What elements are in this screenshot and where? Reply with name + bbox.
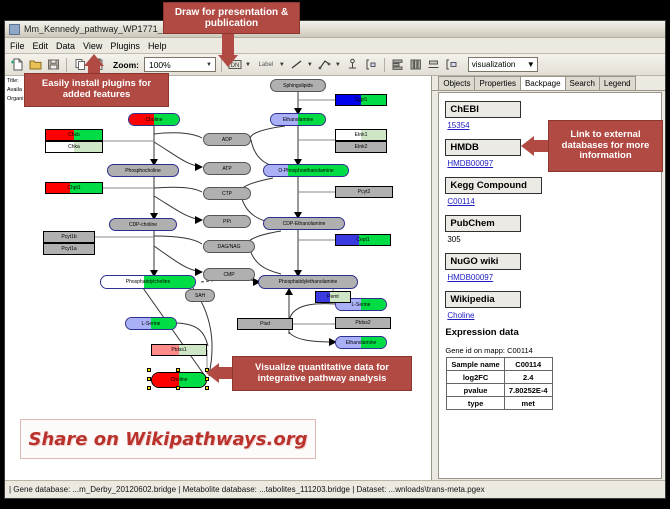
zoom-combobox[interactable]: 100% ▼ xyxy=(144,57,216,72)
toolbar-separator xyxy=(66,58,67,72)
node-label: Phosphatidylethanolamine xyxy=(279,279,338,285)
node-ethanolamine-top[interactable]: Ethanolamine xyxy=(270,113,326,126)
node-label: Sphingolipids xyxy=(283,83,313,89)
backpage-header-nugo: NuGO wiki xyxy=(445,253,521,270)
callout-text: Share on Wikipathways.org xyxy=(29,429,308,450)
node-etnk2[interactable]: Etnk2 xyxy=(335,141,387,153)
tab-objects[interactable]: Objects xyxy=(438,76,475,90)
chevron-down-icon[interactable]: ▼ xyxy=(307,62,313,68)
node-label: Chpt1 xyxy=(67,185,80,191)
table-row: log2FC 2.4 xyxy=(447,371,552,384)
visualization-value: visualization xyxy=(472,60,516,69)
shape-icon[interactable] xyxy=(317,57,333,73)
table-row: type met xyxy=(447,397,552,410)
node-label: Ptdss2 xyxy=(355,320,370,326)
callout-links-arrow-icon xyxy=(521,136,534,156)
node-label: Ptdss1 xyxy=(171,347,186,353)
table-cell-key: log2FC xyxy=(447,371,504,384)
node-label: PPi xyxy=(223,219,231,225)
zoom-label: Zoom: xyxy=(113,60,139,70)
menubar: File Edit Data View Plugins Help xyxy=(5,38,665,54)
backpage-header-hmdb: HMDB xyxy=(445,139,521,156)
node-chkb[interactable]: Chkb xyxy=(45,129,103,141)
statusbar: | Gene database: ...m_Derby_20120602.bri… xyxy=(5,480,665,498)
node-ptdss1[interactable]: Ptdss1 xyxy=(151,344,207,356)
screenshot-root: Mm_Kennedy_pathway_WP1771_45176.gpml Fil… xyxy=(0,0,670,509)
node-cdp-ethanolamine[interactable]: CDP-Ethanolamine xyxy=(263,217,345,230)
line-icon[interactable] xyxy=(289,57,305,73)
node-label: CMP xyxy=(223,272,234,278)
node-chpt1[interactable]: Chpt1 xyxy=(45,182,103,194)
node-label: CTP xyxy=(222,191,232,197)
stack-icon[interactable] xyxy=(426,57,442,73)
distribute-icon[interactable] xyxy=(408,57,424,73)
callout-plugins: Easily install plugins for added feature… xyxy=(24,73,169,107)
node-label: Sgpl1 xyxy=(355,97,368,103)
node-label: DAG/NAG xyxy=(217,244,240,250)
chevron-down-icon[interactable]: ▼ xyxy=(335,62,341,68)
backpage-header-wikipedia: Wikipedia xyxy=(445,291,521,308)
node-l-serine-left[interactable]: L-Serine xyxy=(125,317,177,330)
anchor-icon[interactable] xyxy=(345,57,361,73)
node-choline-selected[interactable]: Choline xyxy=(151,372,207,388)
node-phosphocholine[interactable]: Phosphocholine xyxy=(107,164,179,177)
table-cell-value: met xyxy=(504,397,552,410)
node-ctp[interactable]: CTP xyxy=(203,187,251,200)
node-pcyt2[interactable]: Pcyt2 xyxy=(335,186,393,198)
table-cell-key: type xyxy=(447,397,504,410)
node-chka[interactable]: Chka xyxy=(45,141,103,153)
statusbar-text: | Gene database: ...m_Derby_20120602.bri… xyxy=(9,485,485,494)
table-cell-value: 7.80252E-4 xyxy=(504,384,552,397)
node-label: Etnk2 xyxy=(355,144,368,150)
chevron-down-icon: ▼ xyxy=(527,60,535,69)
node-sphingolipids[interactable]: Sphingolipids xyxy=(270,79,326,92)
node-label: Chka xyxy=(68,144,80,150)
node-cmp[interactable]: CMP xyxy=(203,268,255,281)
menu-plugins[interactable]: Plugins xyxy=(110,41,145,51)
node-choline-top[interactable]: Choline xyxy=(128,113,180,126)
node-ethanolamine-bottom[interactable]: Ethanolamine xyxy=(335,336,387,349)
group-icon[interactable] xyxy=(444,57,460,73)
node-label: Ethanolamine xyxy=(283,117,314,123)
callout-visualize: Visualize quantitative data for integrat… xyxy=(232,356,412,391)
node-label: Phosphocholine xyxy=(125,168,161,174)
callout-share: Share on Wikipathways.org xyxy=(20,419,316,459)
table-cell-key: Sample name xyxy=(447,358,504,371)
node-label: Chkb xyxy=(68,132,80,138)
tab-search[interactable]: Search xyxy=(565,76,600,90)
menu-help[interactable]: Help xyxy=(148,41,172,51)
node-label: Pcyt1a xyxy=(61,246,76,252)
node-o-phosphoethanolamine[interactable]: O-Phosphoethanolamine xyxy=(263,164,349,177)
backpage-link-wikipedia[interactable]: Choline xyxy=(447,311,661,320)
toolbar-separator xyxy=(384,58,385,72)
table-cell-value: C00114 xyxy=(504,358,552,371)
callout-text: Easily install plugins for added feature… xyxy=(31,79,162,101)
window-titlebar: Mm_Kennedy_pathway_WP1771_45176.gpml xyxy=(5,21,665,38)
node-sah[interactable]: SAH xyxy=(185,289,215,302)
node-label: Choline xyxy=(146,117,163,123)
chevron-down-icon[interactable]: ▼ xyxy=(279,62,285,68)
node-cept1[interactable]: Cept1 xyxy=(335,234,391,246)
node-label: Pemt xyxy=(327,294,339,300)
node-atp[interactable]: ATP xyxy=(203,162,251,175)
backpage-link-kegg[interactable]: C00114 xyxy=(447,197,661,206)
save-disk-icon[interactable] xyxy=(45,57,61,73)
node-phosphatidylethanolamine[interactable]: Phosphatidylethanolamine xyxy=(258,275,358,289)
node-label: Pcyt1b xyxy=(61,234,76,240)
node-adp[interactable]: ADP xyxy=(203,133,251,146)
node-label: Pcyt2 xyxy=(358,189,371,195)
callout-links: Link to external databases for more info… xyxy=(548,120,663,172)
node-dag-nag[interactable]: DAG/NAG xyxy=(203,240,255,253)
node-sgpl1[interactable]: Sgpl1 xyxy=(335,94,387,106)
label-tool-button[interactable]: Label xyxy=(255,57,277,73)
chevron-down-icon: ▼ xyxy=(206,62,214,68)
callout-text: Visualize quantitative data for integrat… xyxy=(239,363,405,385)
node-ppi[interactable]: PPi xyxy=(203,215,251,228)
node-phosphatidylcholine[interactable]: Phosphatidylcholine xyxy=(100,275,196,289)
node-label: L-Serine xyxy=(352,302,371,308)
table-row: Sample name C00114 xyxy=(447,358,552,371)
node-etnk1[interactable]: Etnk1 xyxy=(335,129,387,141)
node-pcyt1b[interactable]: Pcyt1b xyxy=(43,231,95,243)
node-label: O-Phosphoethanolamine xyxy=(278,168,333,174)
node-label: ATP xyxy=(222,166,231,172)
bracket-icon[interactable] xyxy=(363,57,379,73)
menu-view[interactable]: View xyxy=(83,41,107,51)
callout-visualize-arrow-icon xyxy=(206,363,219,383)
visualization-combobox[interactable]: visualization ▼ xyxy=(468,57,538,72)
chevron-down-icon[interactable]: ▼ xyxy=(245,62,251,68)
node-label: Phosphatidylcholine xyxy=(126,279,170,285)
align-icon[interactable] xyxy=(390,57,406,73)
backpage-header-chebi: ChEBI xyxy=(445,101,521,118)
callout-draw-stem xyxy=(222,34,234,56)
callout-draw: Draw for presentation & publication xyxy=(163,2,300,34)
pathvisio-app-icon xyxy=(9,24,20,35)
node-label: CDP-choline xyxy=(129,222,157,228)
table-cell-value: 2.4 xyxy=(504,371,552,384)
expression-data-table: Sample name C00114 log2FC 2.4 pvalue 7.8… xyxy=(446,357,552,410)
tab-legend[interactable]: Legend xyxy=(599,76,636,90)
table-cell-key: pvalue xyxy=(447,384,504,397)
callout-text: Draw for presentation & publication xyxy=(170,7,293,30)
node-pemt[interactable]: Pemt xyxy=(315,291,351,303)
node-label: Ethanolamine xyxy=(346,340,377,346)
node-pcyt1a[interactable]: Pcyt1a xyxy=(43,243,95,255)
callout-plugins-arrow-icon xyxy=(84,54,104,66)
node-label: Cept1 xyxy=(356,237,369,243)
zoom-value: 100% xyxy=(149,60,171,70)
callout-draw-arrow-icon xyxy=(218,55,238,67)
node-pisd[interactable]: Pisd xyxy=(237,318,293,330)
node-label: Pisd xyxy=(260,321,270,327)
node-label: Etnk1 xyxy=(355,132,368,138)
node-ptdss2[interactable]: Ptdss2 xyxy=(335,317,391,329)
node-label: Choline xyxy=(171,377,188,383)
side-panel-tabs: Objects Properties Backpage Search Legen… xyxy=(432,76,665,91)
node-label: L-Serine xyxy=(142,321,161,327)
new-document-icon[interactable] xyxy=(9,57,25,73)
menu-edit[interactable]: Edit xyxy=(33,41,54,51)
backpage-header-kegg: Kegg Compound xyxy=(445,177,542,194)
backpage-link-nugo[interactable]: HMDB00097 xyxy=(447,273,661,282)
node-label: SAH xyxy=(195,293,205,299)
tab-properties[interactable]: Properties xyxy=(474,76,520,90)
menu-data[interactable]: Data xyxy=(56,41,80,51)
backpage-header-pubchem: PubChem xyxy=(445,215,521,232)
menu-file[interactable]: File xyxy=(10,41,30,51)
node-label: CDP-Ethanolamine xyxy=(283,221,326,227)
tab-backpage[interactable]: Backpage xyxy=(520,76,566,90)
backpage-value-pubchem: 305 xyxy=(447,235,661,244)
table-row: pvalue 7.80252E-4 xyxy=(447,384,552,397)
node-label: ADP xyxy=(222,137,232,143)
expression-data-title: Expression data xyxy=(445,327,661,338)
node-cdp-choline[interactable]: CDP-choline xyxy=(109,218,177,231)
callout-text: Link to external databases for more info… xyxy=(555,130,656,163)
gene-id-caption: Gene id on mapp: C00114 xyxy=(445,346,661,355)
open-folder-icon[interactable] xyxy=(27,57,43,73)
